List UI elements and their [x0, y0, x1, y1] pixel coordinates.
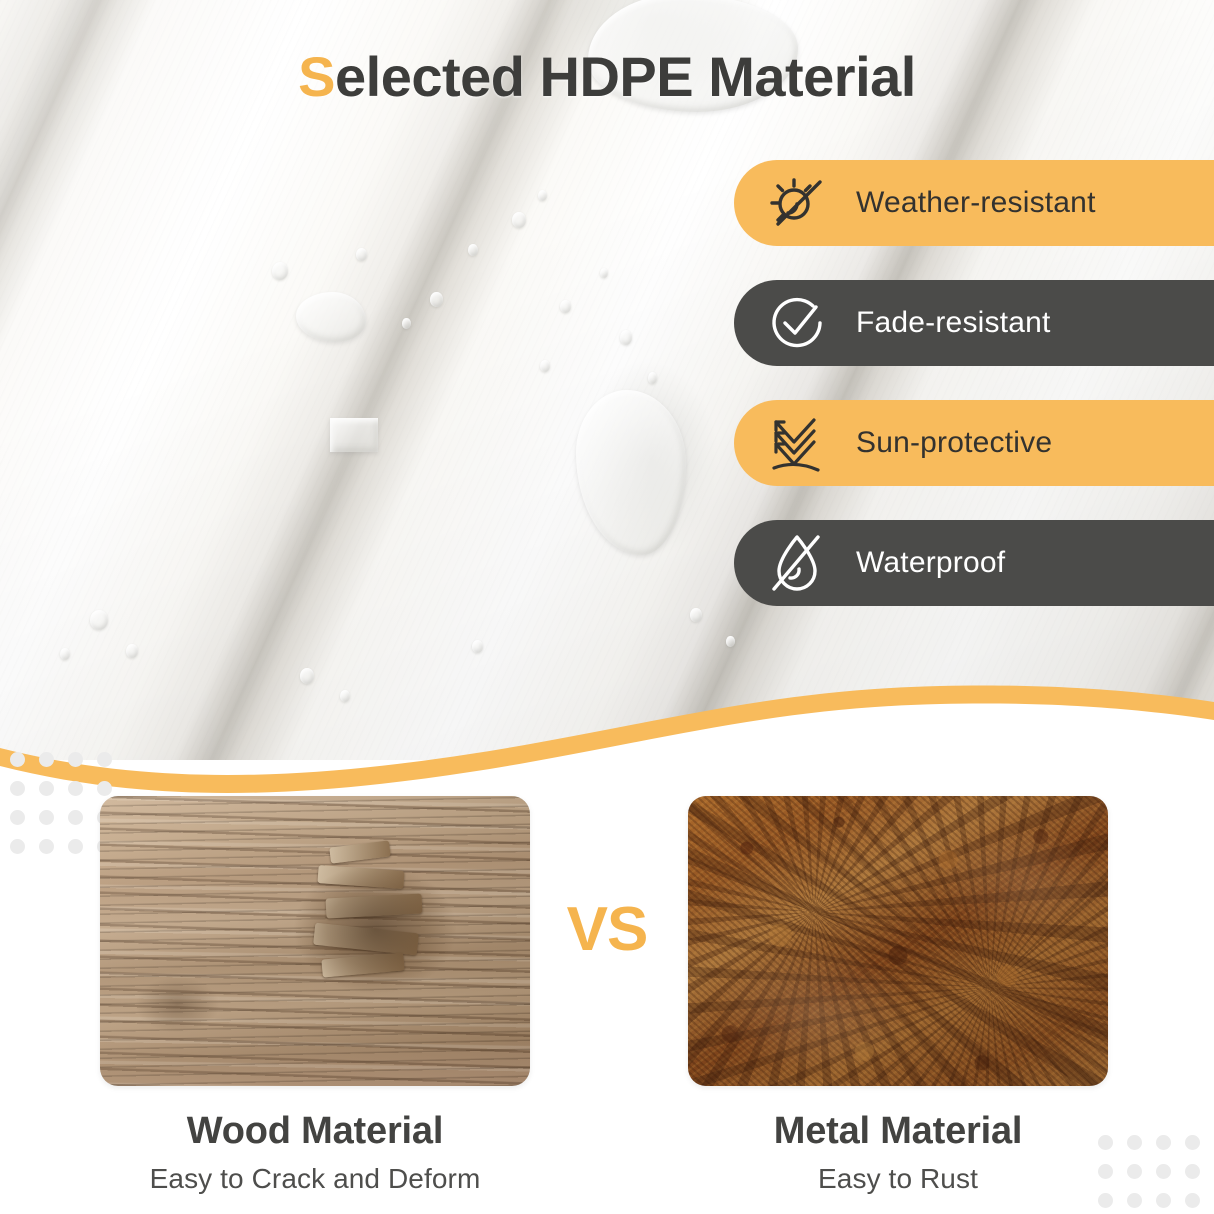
dot [10, 752, 25, 767]
feature-badge-sun-protective[interactable]: Sun-protective [734, 400, 1214, 486]
wood-splinter [313, 923, 419, 956]
water-droplet [430, 292, 443, 307]
feature-badge-label: Weather-resistant [856, 186, 1096, 220]
vs-divider-label: VS [547, 894, 667, 965]
water-droplet [620, 330, 632, 345]
water-droplet [648, 372, 657, 384]
rust-texture-image [688, 796, 1108, 1086]
droplet-crossed-icon [756, 529, 838, 597]
comparison-caption-wood: Wood Material Easy to Crack and Deform [100, 1110, 530, 1195]
water-blob-small [330, 418, 378, 452]
water-droplet [356, 248, 367, 261]
water-droplet [468, 244, 478, 256]
water-droplet [690, 608, 702, 622]
wood-splinter [321, 952, 404, 977]
infographic-page: Selected HDPE Material Weather-resistant [0, 0, 1214, 1214]
dot [39, 752, 54, 767]
material-comparison-section: Wood Material Easy to Crack and Deform M… [0, 790, 1214, 1214]
wood-splinter [317, 865, 404, 889]
feature-badge-waterproof[interactable]: Waterproof [734, 520, 1214, 606]
sun-droplet-crossed-icon [756, 169, 838, 237]
feature-badge-weather-resistant[interactable]: Weather-resistant [734, 160, 1214, 246]
title-accent-letter: S [298, 45, 335, 108]
wave-divider [0, 670, 1214, 800]
title-rest: elected HDPE Material [335, 45, 916, 108]
dot [97, 752, 112, 767]
comparison-title: Wood Material [100, 1110, 530, 1153]
comparison-caption-metal: Metal Material Easy to Rust [688, 1110, 1108, 1195]
comparison-card-metal: Metal Material Easy to Rust [688, 796, 1108, 1195]
water-droplet [560, 300, 571, 313]
water-droplet [90, 610, 108, 630]
water-droplet [512, 212, 526, 228]
wood-splinter [326, 894, 423, 919]
page-title: Selected HDPE Material [0, 44, 1214, 109]
water-droplet [126, 644, 138, 658]
wood-splinter [329, 840, 391, 863]
water-droplet [538, 190, 547, 201]
water-droplet [600, 268, 608, 278]
feature-badge-list: Weather-resistant Fade-resistant [734, 160, 1214, 640]
water-droplet [472, 640, 483, 653]
feature-badge-fade-resistant[interactable]: Fade-resistant [734, 280, 1214, 366]
feature-badge-label: Waterproof [856, 546, 1005, 580]
water-droplet [60, 648, 70, 660]
check-circle-icon [756, 289, 838, 357]
comparison-title: Metal Material [688, 1110, 1108, 1153]
comparison-subtitle: Easy to Rust [688, 1163, 1108, 1195]
feature-badge-label: Fade-resistant [856, 306, 1051, 340]
reflect-arrows-icon [756, 409, 838, 477]
comparison-subtitle: Easy to Crack and Deform [100, 1163, 530, 1195]
water-droplet [402, 318, 411, 329]
feature-badge-label: Sun-protective [856, 426, 1052, 460]
wood-texture-image [100, 796, 530, 1086]
water-droplet [540, 360, 550, 372]
dot [68, 752, 83, 767]
comparison-card-wood: Wood Material Easy to Crack and Deform [100, 796, 530, 1195]
water-droplet [272, 262, 288, 280]
